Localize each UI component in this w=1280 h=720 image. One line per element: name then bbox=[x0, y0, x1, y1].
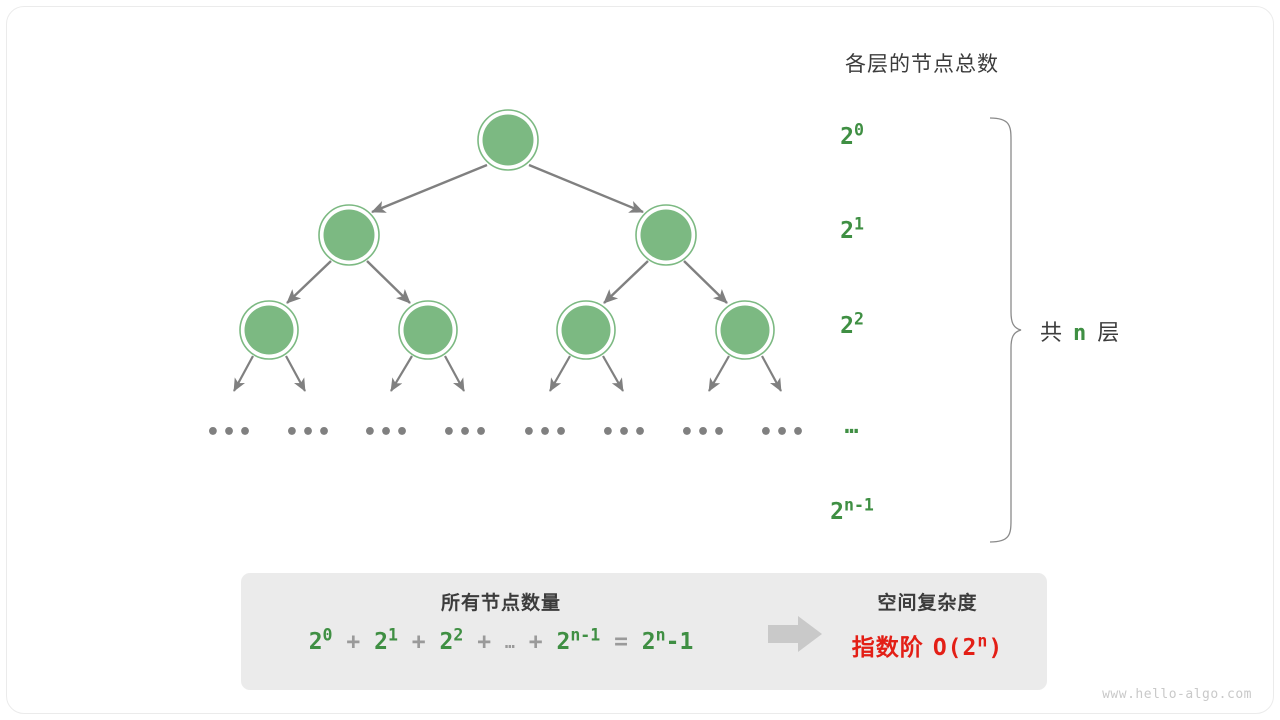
level-count-n-exp: n-1 bbox=[844, 495, 874, 514]
level-count-0-base: 2 bbox=[840, 124, 854, 150]
tree-node-l1-left[interactable] bbox=[319, 205, 379, 265]
tree-node-l2-a[interactable] bbox=[240, 301, 298, 359]
edge-l1left-b bbox=[367, 261, 410, 303]
tree-ellipsis: ••• bbox=[285, 420, 333, 445]
tree-ellipsis: ••• bbox=[680, 420, 728, 445]
space-complexity-value: 指数阶 O(2n) bbox=[825, 628, 1030, 662]
tree-stub-arrows bbox=[234, 356, 781, 391]
tree-ellipsis: ••• bbox=[759, 420, 807, 445]
level-count-1-base: 2 bbox=[840, 218, 854, 244]
total-layers-suffix: 层 bbox=[1097, 321, 1121, 346]
formula-ellipsis: … bbox=[505, 633, 515, 652]
tree-node-l2-b[interactable] bbox=[399, 301, 457, 359]
complexity-label: 指数阶 bbox=[852, 635, 924, 661]
levels-brace bbox=[990, 118, 1021, 542]
total-layers-prefix: 共 bbox=[1040, 321, 1064, 346]
formula-equals: = bbox=[614, 629, 628, 655]
tree-node-root[interactable] bbox=[478, 110, 538, 170]
formula-term-2: 22 bbox=[440, 629, 464, 655]
total-nodes-heading: 所有节点数量 bbox=[241, 588, 761, 615]
edge-root-left bbox=[372, 165, 487, 212]
formula-plus: + bbox=[412, 629, 426, 655]
formula-term-1: 21 bbox=[374, 629, 398, 655]
level-count-n: 2n-1 bbox=[782, 499, 922, 525]
column-title: 各层的节点总数 bbox=[786, 48, 1058, 78]
level-count-0: 20 bbox=[782, 124, 922, 150]
total-layers-label: 共 n 层 bbox=[1040, 315, 1121, 347]
level-count-2: 22 bbox=[782, 313, 922, 339]
tree-nodes bbox=[240, 110, 774, 359]
edge-l1right-c bbox=[604, 261, 648, 303]
stub-arrow bbox=[550, 356, 570, 391]
tree-ellipsis: ••• bbox=[522, 420, 570, 445]
stub-arrow bbox=[391, 356, 412, 391]
diagram-canvas: 各层的节点总数 20 21 22 … 2n-1 共 n 层 ••• ••• ••… bbox=[0, 0, 1280, 720]
complexity-notation: O(2n) bbox=[933, 635, 1003, 661]
total-layers-variable: n bbox=[1073, 321, 1088, 346]
right-arrow-icon bbox=[768, 614, 824, 654]
tree-ellipsis: ••• bbox=[442, 420, 490, 445]
level-count-2-exp: 2 bbox=[854, 309, 864, 328]
level-count-1-exp: 1 bbox=[854, 214, 864, 233]
diagram-page: 各层的节点总数 20 21 22 … 2n-1 共 n 层 ••• ••• ••… bbox=[0, 0, 1280, 720]
formula-result: 2n-1 bbox=[642, 629, 694, 655]
stub-arrow bbox=[709, 356, 729, 391]
level-count-2-base: 2 bbox=[840, 313, 854, 339]
formula-term-0: 20 bbox=[309, 629, 333, 655]
edge-l1right-d bbox=[684, 261, 727, 303]
tree-node-l2-d[interactable] bbox=[716, 301, 774, 359]
space-complexity-heading: 空间复杂度 bbox=[825, 588, 1030, 615]
stub-arrow bbox=[234, 356, 253, 391]
total-nodes-formula: 20 + 21 + 22 + … + 2n-1 = 2n-1 bbox=[241, 629, 761, 655]
edge-root-right bbox=[529, 165, 643, 212]
edge-l1left-a bbox=[287, 261, 331, 303]
tree-ellipsis: ••• bbox=[601, 420, 649, 445]
stub-arrow bbox=[286, 356, 305, 391]
tree-ellipsis: ••• bbox=[206, 420, 254, 445]
level-count-0-exp: 0 bbox=[854, 120, 864, 139]
tree-node-l1-right[interactable] bbox=[636, 205, 696, 265]
stub-arrow bbox=[603, 356, 623, 391]
tree-node-l2-c[interactable] bbox=[557, 301, 615, 359]
tree-ellipsis: ••• bbox=[363, 420, 411, 445]
summary-left: 所有节点数量 20 + 21 + 22 + … + 2n-1 = 2n-1 bbox=[241, 588, 761, 655]
watermark: www.hello-algo.com bbox=[1102, 687, 1252, 702]
level-count-ellipsis-text: … bbox=[845, 413, 860, 439]
stub-arrow bbox=[445, 356, 464, 391]
formula-last-term: 2n-1 bbox=[556, 629, 600, 655]
implies-arrow bbox=[768, 614, 824, 659]
formula-plus: + bbox=[529, 629, 543, 655]
level-count-1: 21 bbox=[782, 218, 922, 244]
summary-right: 空间复杂度 指数阶 O(2n) bbox=[825, 588, 1030, 662]
formula-plus: + bbox=[477, 629, 491, 655]
level-count-n-base: 2 bbox=[830, 499, 844, 525]
stub-arrow bbox=[762, 356, 781, 391]
formula-plus: + bbox=[346, 629, 360, 655]
